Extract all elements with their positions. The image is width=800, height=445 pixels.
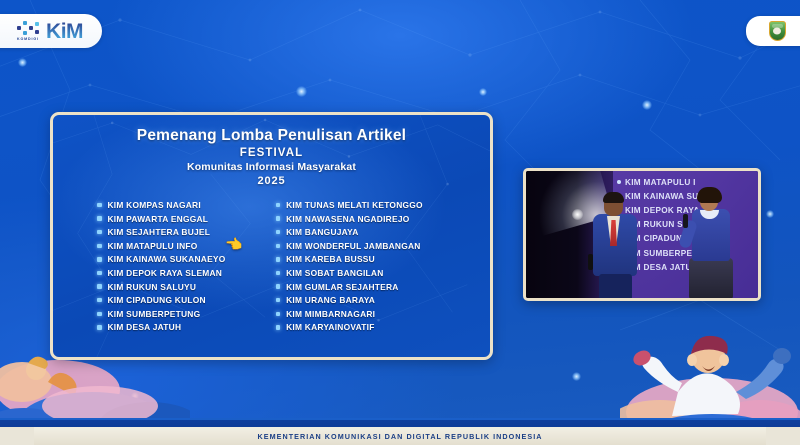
bullet-icon <box>97 284 102 289</box>
komdigi-logo: KOMDIGI <box>17 21 39 41</box>
bullet-icon <box>276 312 281 317</box>
winner-name: KIM URANG BARAYA <box>286 295 375 305</box>
winner-name: KIM SEJAHTERA BUJEL <box>108 227 211 237</box>
footer-band: KEMENTERIAN KOMUNIKASI DAN DIGITAL REPUB… <box>0 418 800 445</box>
bullet-icon <box>276 298 281 303</box>
stage-screen-text: KIM MATAPULU I <box>625 178 696 187</box>
footer-ministry-text: KEMENTERIAN KOMUNIKASI DAN DIGITAL REPUB… <box>258 432 543 441</box>
bullet-icon <box>97 271 102 276</box>
winner-list-item: KIM SOBAT BANGILAN <box>276 267 484 280</box>
winner-list-item: KIM KOMPAS NAGARI <box>97 199 276 212</box>
panel-title-subtitle: Komunitas Informasi Masyarakat <box>53 161 490 174</box>
winner-name: KIM MIMBARNAGARI <box>286 309 375 319</box>
presentation-slide: KOMDIGI KiM <box>0 0 800 445</box>
winner-list-item: KIM SEJAHTERA BUJEL <box>97 226 276 239</box>
bullet-icon <box>97 216 102 221</box>
winner-list-item: KIM PAWARTA ENGGAL <box>97 212 276 225</box>
winner-name: KIM MATAPULU INFO <box>108 241 198 251</box>
winner-list-item: KIM RUKUN SALUYU <box>97 280 276 293</box>
winner-name: KIM CIPADUNG KULON <box>108 295 206 305</box>
winner-name: KIM KARYAINOVATIF <box>286 322 374 332</box>
panel-title-festival: FESTIVAL <box>53 146 490 162</box>
bullet-icon <box>97 244 102 249</box>
presenter-male <box>588 194 646 298</box>
footer-cap-left <box>0 427 34 445</box>
bullet-icon <box>276 284 281 289</box>
winner-list-item: KIM GUMLAR SEJAHTERA <box>276 280 484 293</box>
winner-name: KIM KAREBA BUSSU <box>286 254 375 264</box>
regional-emblem-badge <box>746 16 800 46</box>
winner-name: KIM KOMPAS NAGARI <box>108 200 201 210</box>
spotlight-source <box>572 209 583 220</box>
pointing-hand-icon: 👈 <box>225 237 242 251</box>
footer-strip: KEMENTERIAN KOMUNIKASI DAN DIGITAL REPUB… <box>0 427 800 445</box>
panel-title-block: Pemenang Lomba Penulisan Artikel FESTIVA… <box>53 115 490 189</box>
footer-cap-right <box>766 427 800 445</box>
komdigi-wordmark: KOMDIGI <box>17 37 39 41</box>
presenter-female <box>684 190 740 298</box>
bullet-icon <box>97 312 102 317</box>
kim-wordmark: KiM <box>46 21 83 42</box>
winner-name: KIM NAWASENA NGADIREJO <box>286 214 409 224</box>
panel-title-main: Pemenang Lomba Penulisan Artikel <box>53 127 490 145</box>
winners-column-right: KIM TUNAS MELATI KETONGGOKIM NAWASENA NG… <box>276 199 484 334</box>
winner-list-item: KIM URANG BARAYA <box>276 294 484 307</box>
komdigi-dots-icon <box>17 21 39 36</box>
bullet-icon <box>276 203 281 208</box>
winner-name: KIM SUMBERPETUNG <box>108 309 201 319</box>
presenter-male-hair <box>603 192 624 203</box>
regional-emblem-icon <box>769 21 786 41</box>
winner-name: KIM BANGUJAYA <box>286 227 358 237</box>
winner-list-item: KIM MIMBARNAGARI <box>276 308 484 321</box>
winner-name: KIM PAWARTA ENGGAL <box>108 214 209 224</box>
winner-name: KIM WONDERFUL JAMBANGAN <box>286 241 420 251</box>
winner-name: KIM KAINAWA SUKANAEYO <box>108 254 226 264</box>
presenter-female-hair <box>697 187 722 203</box>
winner-name: KIM DESA JATUH <box>108 322 182 332</box>
bullet-icon <box>276 325 281 330</box>
winners-panel: Pemenang Lomba Penulisan Artikel FESTIVA… <box>50 112 493 360</box>
winner-list-item: KIM KAREBA BUSSU <box>276 253 484 266</box>
winner-list-item: KIM TUNAS MELATI KETONGGO <box>276 199 484 212</box>
winner-list-item: KIM KARYAINOVATIF <box>276 321 484 334</box>
winner-list-item: KIM DESA JATUH <box>97 321 276 334</box>
winner-list-item: KIM CIPADUNG KULON <box>97 294 276 307</box>
bullet-icon <box>276 230 281 235</box>
winner-name: KIM GUMLAR SEJAHTERA <box>286 282 398 292</box>
winner-list-item: KIM MATAPULU INFO👈 <box>97 240 276 253</box>
bullet-icon <box>276 271 281 276</box>
bullet-icon <box>97 230 102 235</box>
winner-name: KIM RUKUN SALUYU <box>108 282 197 292</box>
bullet-icon <box>97 298 102 303</box>
winners-columns: KIM KOMPAS NAGARIKIM PAWARTA ENGGALKIM S… <box>53 199 490 334</box>
winner-list-item: KIM WONDERFUL JAMBANGAN <box>276 240 484 253</box>
bullet-icon <box>97 203 102 208</box>
presenter-female-skirt <box>689 258 733 300</box>
winner-list-item: KIM SUMBERPETUNG <box>97 308 276 321</box>
bullet-icon <box>97 257 102 262</box>
bullet-icon <box>276 257 281 262</box>
winner-name: KIM SOBAT BANGILAN <box>286 268 383 278</box>
bullet-icon <box>276 244 281 249</box>
winner-name: KIM DEPOK RAYA SLEMAN <box>108 268 223 278</box>
bullet-icon <box>97 325 102 330</box>
winner-name: KIM TUNAS MELATI KETONGGO <box>286 200 423 210</box>
winner-list-item: KIM DEPOK RAYA SLEMAN <box>97 267 276 280</box>
winners-column-left: KIM KOMPAS NAGARIKIM PAWARTA ENGGALKIM S… <box>97 199 276 334</box>
bullet-icon <box>617 180 621 184</box>
winner-list-item: KIM BANGUJAYA <box>276 226 484 239</box>
stage-video-panel[interactable]: KIM MATAPULU IKIM KAINAWA SUKIM DEPOK RA… <box>523 168 761 301</box>
winner-list-item: KIM KAINAWA SUKANAEYO <box>97 253 276 266</box>
bullet-icon <box>276 216 281 221</box>
panel-title-year: 2025 <box>53 174 490 188</box>
brand-logo-group: KOMDIGI KiM <box>0 14 102 48</box>
presenter-male-trousers <box>599 274 632 300</box>
stage-screen-list-item: KIM MATAPULU I <box>617 175 758 189</box>
winner-list-item: KIM NAWASENA NGADIREJO <box>276 212 484 225</box>
microphone-icon <box>683 214 688 228</box>
